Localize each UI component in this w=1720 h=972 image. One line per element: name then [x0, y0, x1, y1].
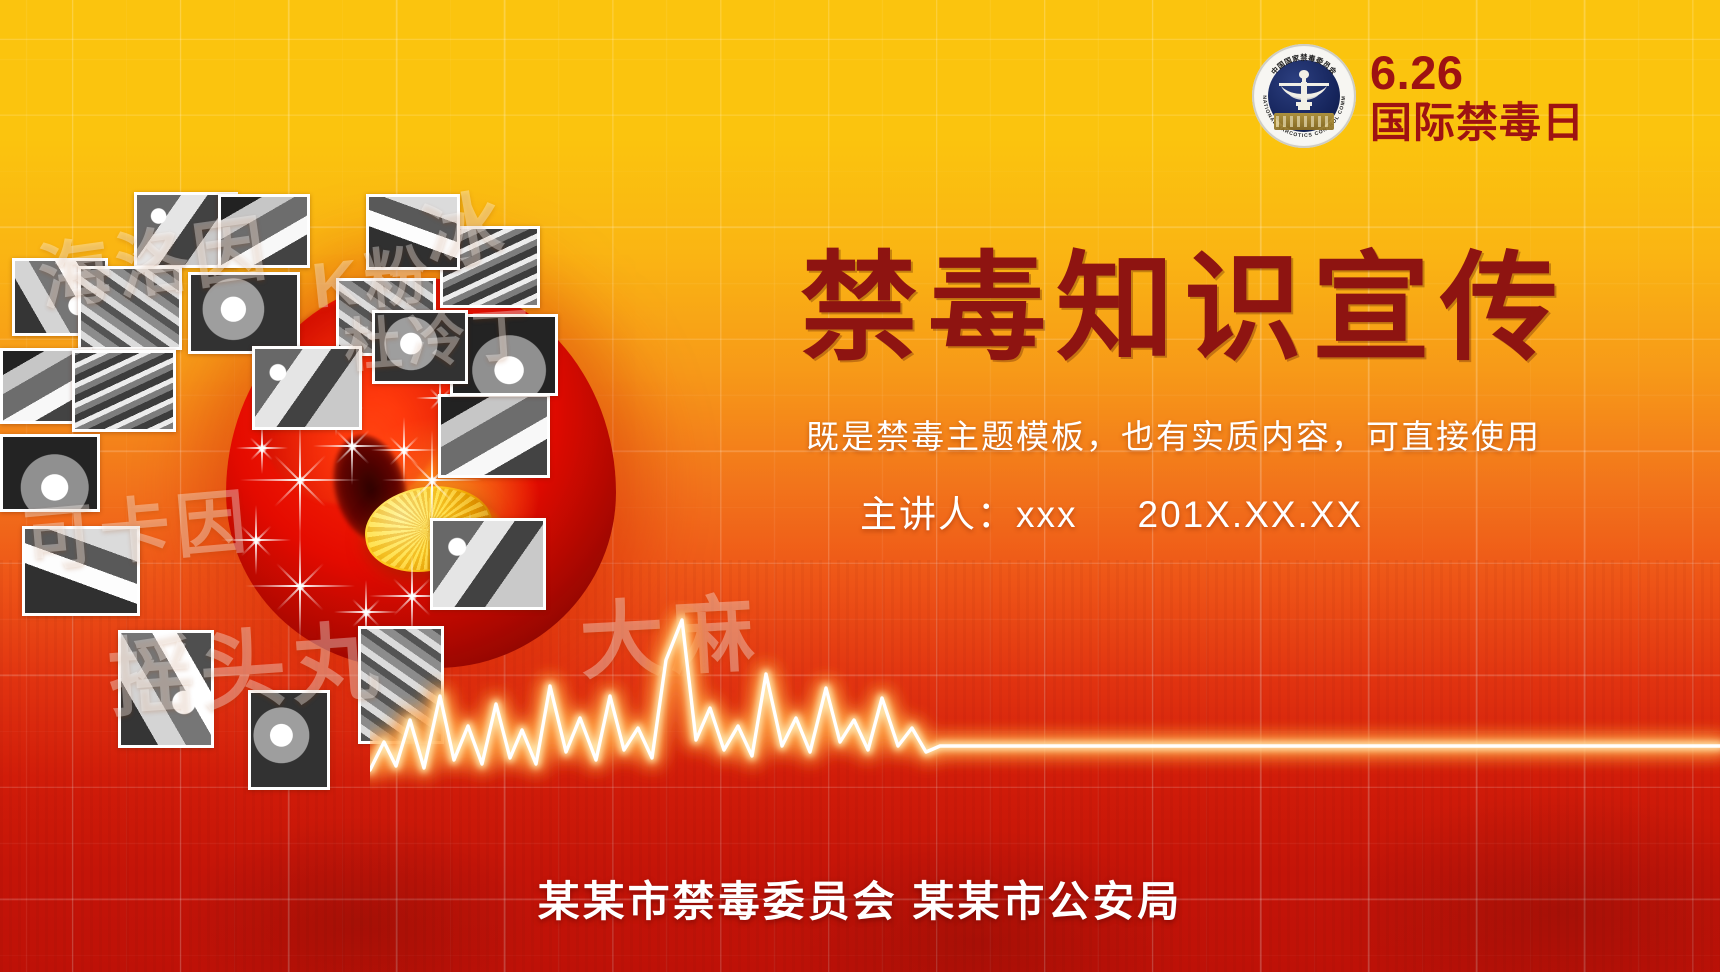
collage-photo [366, 194, 460, 270]
page-subtitle: 既是禁毒主题模板，也有实质内容，可直接使用 [806, 410, 1541, 458]
collage-photo [218, 194, 310, 268]
pledge-banner-photo [453, 317, 555, 393]
destroying-crop-photo [191, 275, 297, 351]
footer-organizations: 某某市禁毒委员会 某某市公安局 [0, 868, 1720, 929]
presentation-date: 201X.XX.XX [1138, 494, 1364, 536]
seized-pile-photo [3, 437, 97, 509]
collage-photo [118, 630, 214, 748]
collage-photo [430, 518, 546, 610]
presenter-line: 主讲人：xxx 201X.XX.XX [860, 484, 1363, 538]
collage-photo [72, 350, 176, 432]
drug-table-photo [221, 197, 307, 265]
arrest-scene-photo [433, 521, 543, 607]
international-day-date: 6.26 [1370, 49, 1585, 96]
international-day-label: 国际禁毒日 [1370, 102, 1585, 144]
officers-harvest-photo [81, 269, 179, 347]
collage-photo [252, 346, 362, 430]
police-incinerate-photo [121, 633, 211, 745]
bowl-burning-photo [75, 353, 173, 429]
confiscated-drugs-photo [25, 529, 137, 613]
collage-photo [438, 394, 550, 478]
collage-photo [248, 690, 330, 790]
poppy-pod-photo [251, 693, 327, 787]
narcotics-commission-seal-icon: 中国国家禁毒委员会 CHINA NATIONAL NARCOTICS CONTR… [1252, 44, 1356, 148]
addict-arms-photo [375, 313, 465, 381]
collage-photo [188, 272, 300, 354]
collage-photo [0, 434, 100, 512]
collage-photo [78, 266, 182, 350]
rehab-visit-photo [441, 397, 547, 475]
handcuffed-photo [369, 197, 457, 267]
page-title: 禁毒知识宣传 [800, 248, 1568, 372]
audio-waveform [370, 600, 1720, 790]
presenter-name: 主讲人：xxx [860, 484, 1078, 538]
slide-canvas: 中国国家禁毒委员会 CHINA NATIONAL NARCOTICS CONTR… [0, 0, 1720, 972]
collage-photo [22, 526, 140, 616]
header-badge: 中国国家禁毒委员会 CHINA NATIONAL NARCOTICS CONTR… [1252, 44, 1585, 148]
collage-photo [372, 310, 468, 384]
public-burn-photo [255, 349, 359, 427]
